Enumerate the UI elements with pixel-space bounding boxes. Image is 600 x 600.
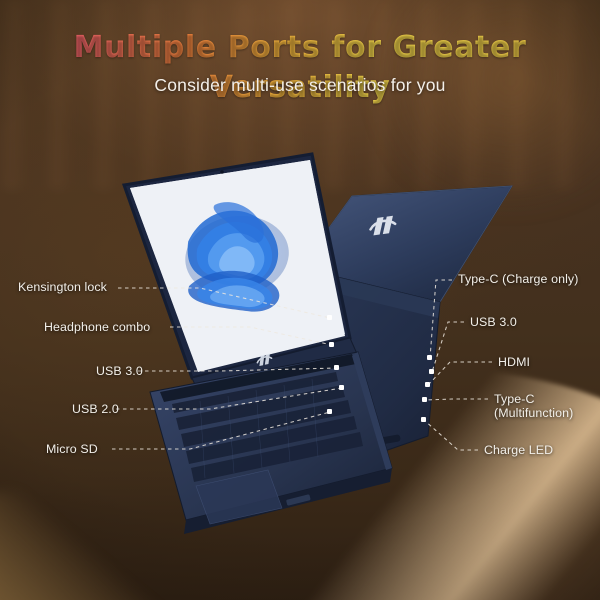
- callout-label-type-c-charge-only: Type-C (Charge only): [458, 272, 578, 286]
- callout-label-line2: (Multifunction): [494, 406, 573, 420]
- callout-label-charge-led: Charge LED: [484, 443, 553, 457]
- callout-label-usb-3-left: USB 3.0: [96, 364, 143, 378]
- callout-label-line1: Type-C: [494, 392, 535, 406]
- callout-label-usb-3-right: USB 3.0: [470, 315, 517, 329]
- product-feature-graphic: Multiple Ports for Greater Versatility C…: [0, 0, 600, 600]
- laptop-illustration: [0, 0, 600, 600]
- callout-label-headphone-combo: Headphone combo: [44, 320, 150, 334]
- callout-label-type-c-multifunction: Type-C (Multifunction): [494, 392, 573, 420]
- callout-label-micro-sd: Micro SD: [46, 442, 98, 456]
- callout-label-hdmi: HDMI: [498, 355, 530, 369]
- callout-label-kensington-lock: Kensington lock: [18, 280, 107, 294]
- callout-label-usb-2: USB 2.0: [72, 402, 119, 416]
